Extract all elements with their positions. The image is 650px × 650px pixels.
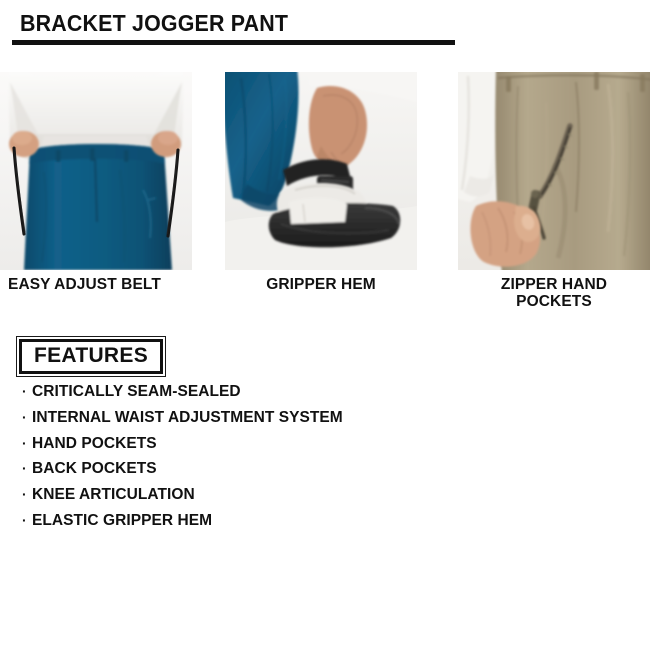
bullet-icon: · (22, 379, 32, 405)
feature-label: KNEE ARTICULATION (32, 486, 195, 503)
bullet-icon: · (22, 456, 32, 482)
features-heading-label: FEATURES (34, 344, 148, 368)
caption-line-2: POCKETS (516, 293, 592, 310)
feature-list-item: ·CRITICALLY SEAM-SEALED (22, 379, 582, 405)
photo-caption-easy-adjust-belt: EASY ADJUST BELT (8, 276, 208, 293)
zipper-hand-pockets-illustration (458, 72, 650, 270)
product-spec-sheet: BRACKET JOGGER PANT (0, 0, 650, 650)
caption-line-1: ZIPPER HAND (501, 276, 607, 293)
photo-caption-gripper-hem: GRIPPER HEM (225, 276, 417, 293)
feature-list-item: ·HAND POCKETS (22, 431, 582, 457)
bullet-icon: · (22, 508, 32, 534)
gripper-hem-illustration (225, 72, 417, 270)
easy-adjust-belt-illustration (0, 72, 192, 270)
bullet-icon: · (22, 482, 32, 508)
page-title: BRACKET JOGGER PANT (20, 10, 288, 36)
photo-caption-zipper-hand-pockets: ZIPPER HAND POCKETS (458, 276, 650, 310)
product-photo-row (0, 72, 650, 270)
features-heading-box: FEATURES (16, 336, 166, 377)
product-photo-gripper-hem (225, 72, 417, 270)
features-heading-inner-border: FEATURES (19, 339, 163, 374)
title-underline-rule (12, 40, 455, 45)
feature-label: ELASTIC GRIPPER HEM (32, 512, 212, 529)
feature-list-item: ·BACK POCKETS (22, 456, 582, 482)
feature-list-item: ·ELASTIC GRIPPER HEM (22, 508, 582, 534)
feature-label: HAND POCKETS (32, 435, 157, 452)
feature-label: CRITICALLY SEAM-SEALED (32, 383, 241, 400)
page-header: BRACKET JOGGER PANT (0, 10, 650, 52)
feature-list-item: ·KNEE ARTICULATION (22, 482, 582, 508)
product-photo-zipper-hand-pockets (458, 72, 650, 270)
feature-label: INTERNAL WAIST ADJUSTMENT SYSTEM (32, 409, 343, 426)
bullet-icon: · (22, 405, 32, 431)
bullet-icon: · (22, 431, 32, 457)
feature-label: BACK POCKETS (32, 460, 157, 477)
feature-list-item: ·INTERNAL WAIST ADJUSTMENT SYSTEM (22, 405, 582, 431)
product-photo-easy-adjust-belt (0, 72, 192, 270)
features-list: ·CRITICALLY SEAM-SEALED ·INTERNAL WAIST … (22, 379, 582, 534)
